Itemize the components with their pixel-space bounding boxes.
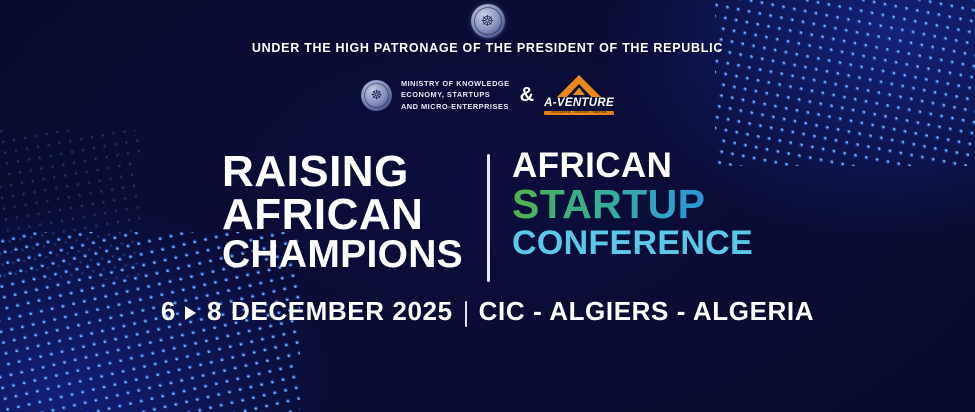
date-venue-separator (465, 301, 467, 327)
ministry-line-3: AND MICRO-ENTERPRISES (401, 101, 510, 112)
a-venture-tagline: ACCELERATE • INNOVATE • VENTURE (544, 111, 614, 115)
emblem-glyph: ☸ (471, 4, 505, 38)
venue: CIC - ALGIERS - ALGERIA (479, 296, 814, 327)
a-venture-name: A-VENTURE (544, 98, 614, 110)
a-venture-tagline-bar: ACCELERATE • INNOVATE • VENTURE (544, 111, 614, 115)
a-venture-peak-icon (555, 75, 603, 97)
title-divider (487, 154, 490, 282)
ministry-line-2: ECONOMY, STARTUPS (401, 89, 510, 100)
ministry-emblem-glyph: ☸ (361, 80, 392, 111)
event-banner: ☸ UNDER THE HIGH PATRONAGE OF THE PRESID… (0, 0, 975, 412)
ministry-name: MINISTRY OF KNOWLEDGE ECONOMY, STARTUPS … (401, 78, 510, 112)
date-venue-line: 6 8 DECEMBER 2025 CIC - ALGIERS - ALGERI… (0, 296, 975, 327)
triangle-right-icon (185, 306, 196, 320)
sponsor-row: ☸ MINISTRY OF KNOWLEDGE ECONOMY, STARTUP… (0, 75, 975, 115)
day-end: 8 (207, 296, 222, 327)
month-year: DECEMBER 2025 (231, 296, 453, 327)
algeria-national-emblem-icon: ☸ (471, 4, 505, 38)
national-emblem: ☸ (471, 4, 505, 38)
africa-map-bars-logo-icon (694, 140, 874, 305)
ampersand-separator: & (519, 85, 535, 105)
left-title-line-3: CHAMPIONS (222, 236, 463, 274)
day-start: 6 (161, 296, 176, 327)
a-venture-logo: A-VENTURE ACCELERATE • INNOVATE • VENTUR… (544, 75, 614, 115)
ministry-emblem-icon: ☸ (361, 80, 392, 111)
left-title-line-1: RAISING (222, 150, 463, 193)
patronage-text: UNDER THE HIGH PATRONAGE OF THE PRESIDEN… (0, 41, 975, 55)
left-title: RAISING AFRICAN CHAMPIONS (222, 148, 463, 274)
left-title-line-2: AFRICAN (222, 193, 463, 236)
ministry-line-1: MINISTRY OF KNOWLEDGE (401, 78, 510, 89)
